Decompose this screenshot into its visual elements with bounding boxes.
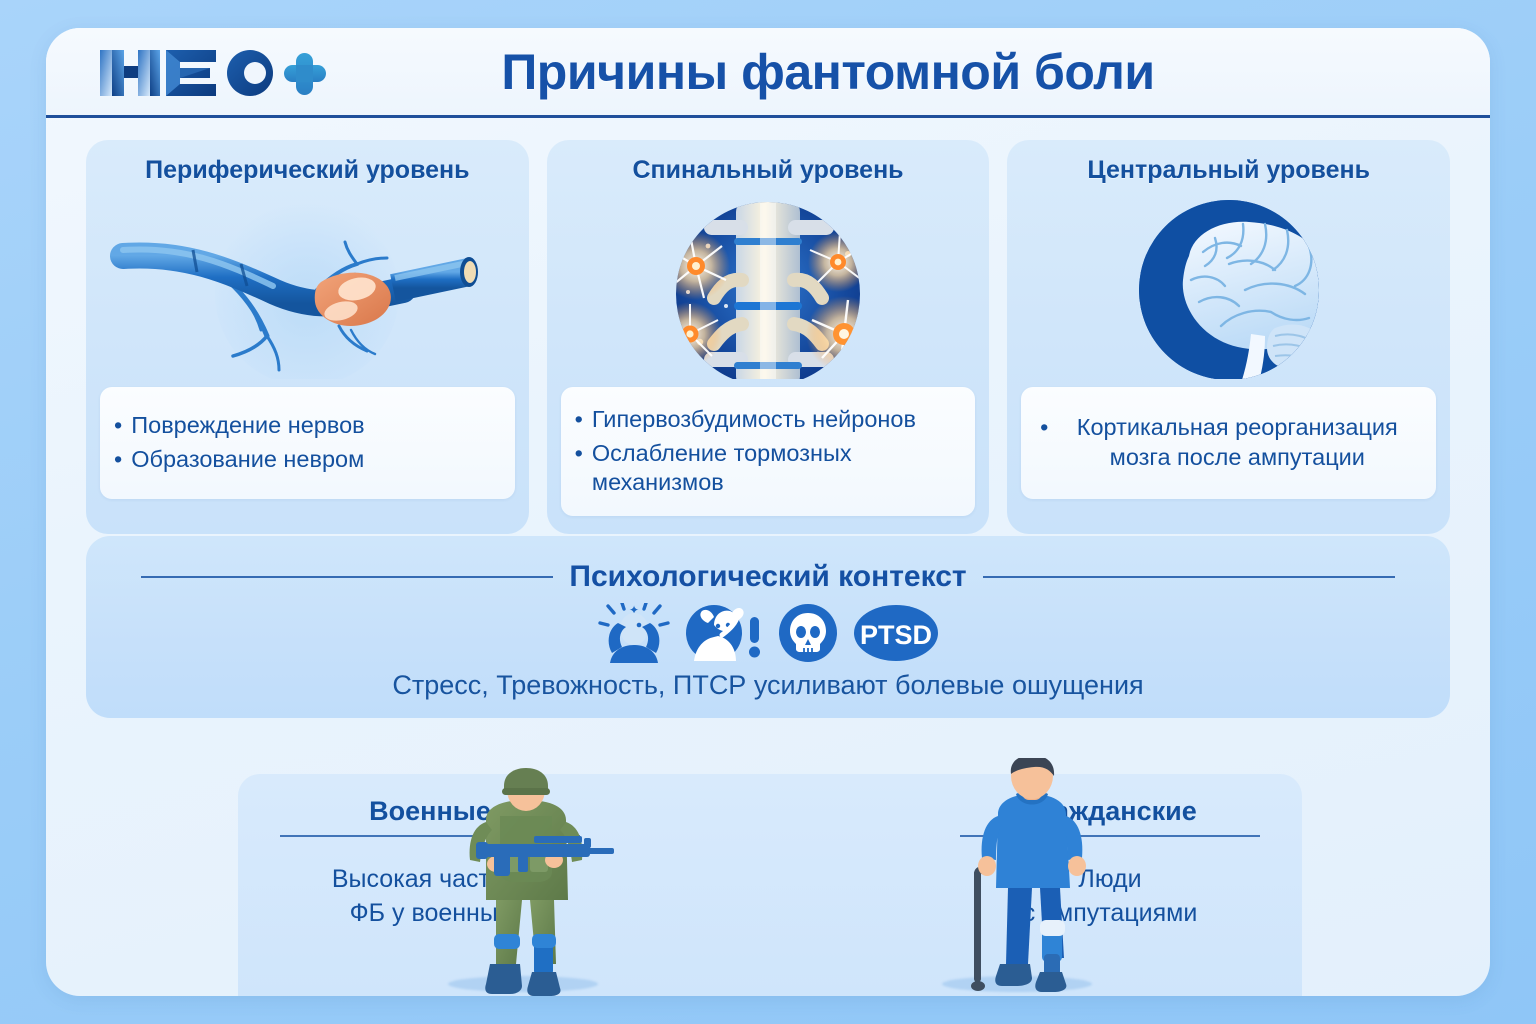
- psychological-context-panel: Психологический контекст ✦: [86, 536, 1450, 718]
- divider-left: [141, 576, 554, 578]
- bullet-box-peripheral: • Повреждение нервов • Образование невро…: [100, 387, 515, 499]
- list-item: • Кортикальная реорганизация мозга после…: [1035, 413, 1422, 472]
- bullet-dot: •: [575, 405, 583, 435]
- levels-row: Периферический уровень: [86, 140, 1450, 534]
- psychological-context-caption: Стресс, Тревожность, ПТСР усиливают боле…: [392, 670, 1143, 701]
- poster-header: Причины фантомной боли: [46, 28, 1490, 118]
- brain-icon: [1021, 191, 1436, 381]
- infographic-poster: Причины фантомной боли Периферический ур…: [46, 28, 1490, 996]
- level-card-peripheral[interactable]: Периферический уровень: [86, 140, 529, 534]
- population-groups-row: Военные Высокая частота ФБ у военных: [238, 774, 1302, 996]
- nerve-damage-icon: [100, 191, 515, 381]
- stress-head-clutch-icon: ✦: [598, 603, 670, 663]
- list-item: • Гипервозбудимость нейронов: [575, 405, 962, 435]
- skull-icon: [778, 603, 838, 663]
- spinal-cord-neurons-icon: [561, 191, 976, 381]
- bullet-dot: •: [114, 445, 122, 475]
- group-civilian[interactable]: Гражданские Люди с ампутациями: [770, 774, 1302, 996]
- soldier-illustration: [434, 768, 624, 996]
- psychological-icons-row: ✦: [598, 602, 938, 664]
- bullet-box-central: • Кортикальная реорганизация мозга после…: [1021, 387, 1436, 499]
- group-military[interactable]: Военные Высокая частота ФБ у военных: [238, 774, 770, 996]
- list-item: • Ослабление тормозных механизмов: [575, 439, 962, 498]
- neo-plus-logo: [98, 42, 328, 104]
- ptsd-badge-label: PTSD: [860, 620, 932, 650]
- bullet-dot: •: [575, 439, 583, 498]
- list-item: • Повреждение нервов: [114, 411, 501, 441]
- bullet-dot: •: [114, 411, 122, 441]
- level-card-spinal[interactable]: Спинальный уровень: [547, 140, 990, 534]
- list-item: • Образование невром: [114, 445, 501, 475]
- bullet-dot: •: [1040, 413, 1048, 472]
- level-title-central: Центральный уровень: [1087, 156, 1370, 185]
- anxiety-person-exclamation-icon: [686, 603, 762, 663]
- bullet-box-spinal: • Гипервозбудимость нейронов • Ослаблени…: [561, 387, 976, 516]
- psychological-context-heading: Психологический контекст: [141, 560, 1396, 594]
- level-title-peripheral: Периферический уровень: [145, 156, 469, 185]
- civilian-illustration: [956, 758, 1106, 996]
- ptsd-badge-icon: PTSD: [854, 603, 938, 663]
- divider-right: [983, 576, 1396, 578]
- psychological-context-title: Психологический контекст: [569, 560, 966, 594]
- level-title-spinal: Спинальный уровень: [632, 156, 903, 185]
- level-card-central[interactable]: Центральный уровень: [1007, 140, 1450, 534]
